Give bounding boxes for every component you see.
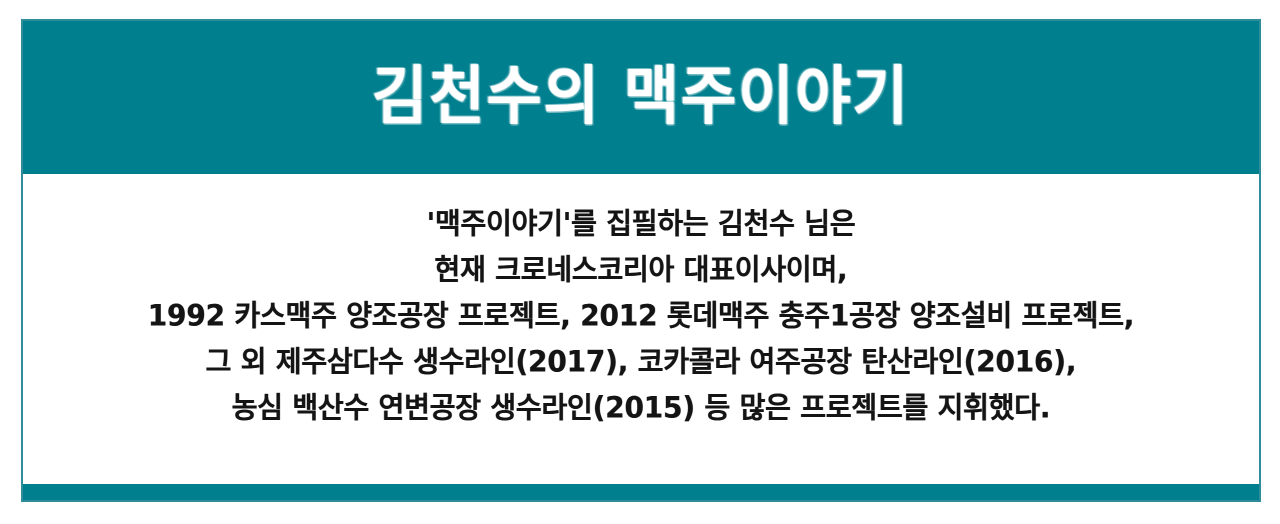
- bio-line-5: 농심 백산수 연변공장 생수라인(2015) 등 많은 프로젝트를 지휘했다.: [232, 393, 1051, 422]
- title-banner: 김천수의 맥주이야기: [23, 21, 1259, 174]
- bio-line-2: 현재 크로네스코리아 대표이사이며,: [435, 255, 848, 284]
- page-title: 김천수의 맥주이야기: [372, 65, 910, 129]
- bio-line-4: 그 외 제주삼다수 생수라인(2017), 코카콜라 여주공장 탄산라인(201…: [206, 347, 1077, 376]
- author-profile-card: 김천수의 맥주이야기 '맥주이야기'를 집필하는 김천수 님은 현재 크로네스코…: [21, 19, 1261, 502]
- poster-canvas: 김천수의 맥주이야기 '맥주이야기'를 집필하는 김천수 님은 현재 크로네스코…: [0, 0, 1280, 524]
- bio-line-1: '맥주이야기'를 집필하는 김천수 님은: [427, 209, 856, 238]
- author-bio-section: '맥주이야기'를 집필하는 김천수 님은 현재 크로네스코리아 대표이사이며, …: [23, 174, 1259, 500]
- footer-accent-bar: [23, 484, 1259, 500]
- bio-line-3: 1992 카스맥주 양조공장 프로젝트, 2012 롯데맥주 충주1공장 양조설…: [148, 301, 1134, 330]
